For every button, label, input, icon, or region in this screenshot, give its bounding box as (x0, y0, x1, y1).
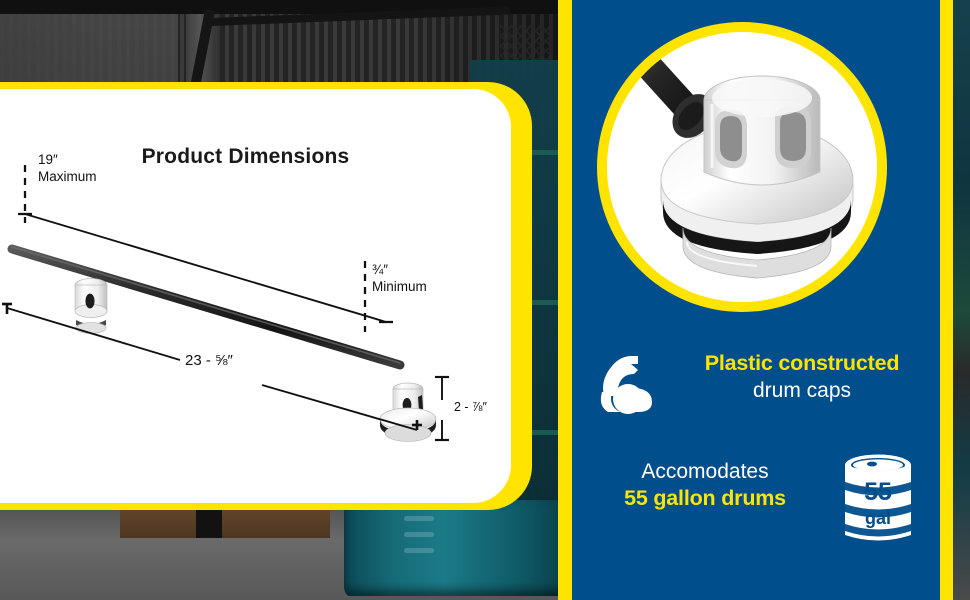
infographic-stage: Product Dimensions (0, 0, 970, 600)
product-photo (607, 32, 877, 302)
flexing-bicep-icon-svg (594, 352, 660, 414)
dimension-label-height-max: 19″ Maximum (38, 151, 97, 186)
product-rod (12, 247, 400, 365)
oil-drum-icon: 55 gal (830, 452, 926, 548)
product-photo-ring (597, 22, 887, 312)
drum-rib (404, 548, 434, 553)
left-drum-cap (75, 279, 107, 334)
feature-drums-line1: Accomodates (580, 458, 830, 485)
feature-drums-text: Accomodates 55 gallon drums (580, 458, 830, 512)
product-dimensions-card: Product Dimensions (0, 89, 511, 503)
feature-accomodates-drums: Accomodates 55 gallon drums 55 gal (572, 452, 940, 550)
feature-plastic-line1: Plastic constructed (668, 350, 936, 377)
dimension-19in-lines (18, 165, 386, 322)
feature-plastic-text: Plastic constructed drum caps (668, 350, 936, 404)
dimension-label-overall-length: 23 - ⅝″ (185, 351, 233, 370)
right-drum-cap (380, 383, 436, 442)
dimension-drawing: 19″ Maximum ¾″ Minimum 23 - ⅝″ 2 - ⅞″ (0, 89, 511, 503)
feature-plastic-constructed: Plastic constructed drum caps (572, 352, 940, 418)
drum-cap-illustration (607, 32, 877, 302)
cap-slotted-tower (704, 76, 820, 185)
drum-capacity-unit: gal (865, 508, 891, 528)
drum-rib (404, 532, 434, 537)
dimension-label-cap-height: 2 - ⅞″ (454, 399, 487, 415)
panel-right-accent-stripe (940, 0, 953, 600)
feature-drums-line2: 55 gallon drums (580, 485, 830, 512)
oil-drum-icon-svg: 55 gal (830, 452, 926, 548)
feature-plastic-line2: drum caps (668, 377, 936, 404)
dimension-cap-height-lines (435, 376, 449, 441)
background-drum (344, 500, 566, 596)
drum-capacity-value: 55 (864, 478, 892, 506)
product-dimensions-card-border: Product Dimensions (0, 82, 532, 510)
panel-left-accent-stripe (558, 0, 572, 600)
right-edge-background-photo (953, 0, 970, 600)
flexing-bicep-icon (594, 352, 660, 414)
drum-rib (404, 516, 434, 521)
dimension-label-height-min: ¾″ Minimum (372, 261, 427, 296)
